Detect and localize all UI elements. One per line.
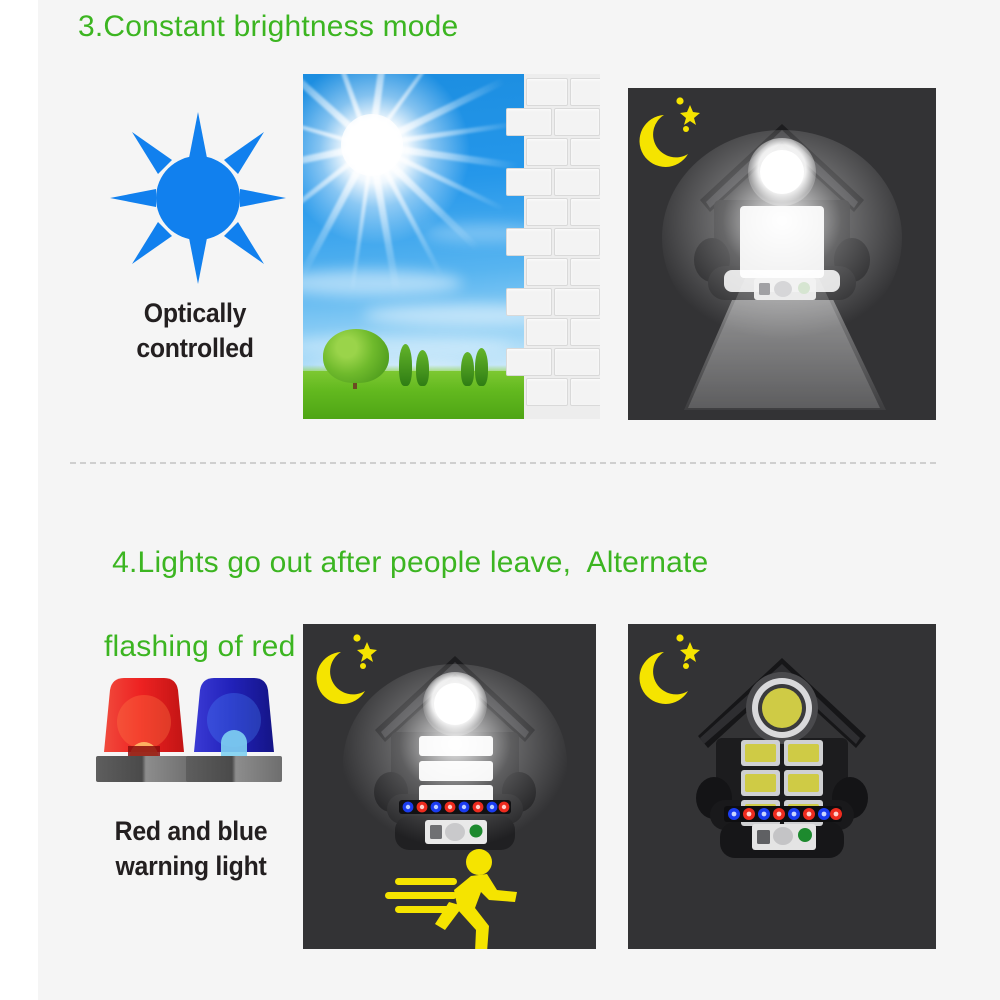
optically-controlled-line1: Optically bbox=[144, 298, 246, 328]
sunny-sky-photo bbox=[303, 74, 600, 419]
cypress-tree bbox=[416, 350, 429, 386]
sensor-panel bbox=[752, 824, 816, 850]
sensor-panel bbox=[425, 820, 487, 844]
section-3-heading: 3.Constant brightness mode bbox=[78, 6, 458, 48]
warning-label-line2: warning light bbox=[116, 851, 267, 881]
brick-wall bbox=[524, 74, 600, 419]
cypress-tree bbox=[475, 348, 488, 386]
night-lamp-on-photo bbox=[628, 88, 936, 420]
led-strip bbox=[399, 800, 511, 814]
warning-label-line1: Red and blue bbox=[115, 816, 268, 846]
left-margin-strip bbox=[0, 0, 38, 1000]
red-beacon bbox=[96, 678, 192, 782]
sky-gradient bbox=[303, 74, 524, 419]
blue-beacon bbox=[186, 678, 282, 782]
red-blue-beacon-icon bbox=[88, 660, 284, 800]
infographic-page: 3.Constant brightness mode Optically con… bbox=[0, 0, 1000, 1000]
section-4-heading-line1: 4.Lights go out after people leave, Alte… bbox=[112, 546, 708, 579]
cypress-tree bbox=[399, 344, 412, 386]
blue-sun-icon bbox=[110, 112, 286, 284]
sun-core bbox=[341, 114, 403, 176]
round-tree bbox=[323, 329, 389, 383]
night-lamp-off-photo bbox=[628, 624, 936, 949]
cob-lens bbox=[746, 672, 818, 744]
led-strip bbox=[724, 806, 842, 822]
section-divider bbox=[70, 462, 936, 464]
cypress-tree bbox=[461, 352, 474, 386]
red-blue-warning-label: Red and blue warning light bbox=[87, 814, 295, 884]
optically-controlled-label: Optically controlled bbox=[100, 296, 290, 366]
optically-controlled-line2: controlled bbox=[136, 333, 253, 363]
night-lamp-motion-photo bbox=[303, 624, 596, 949]
